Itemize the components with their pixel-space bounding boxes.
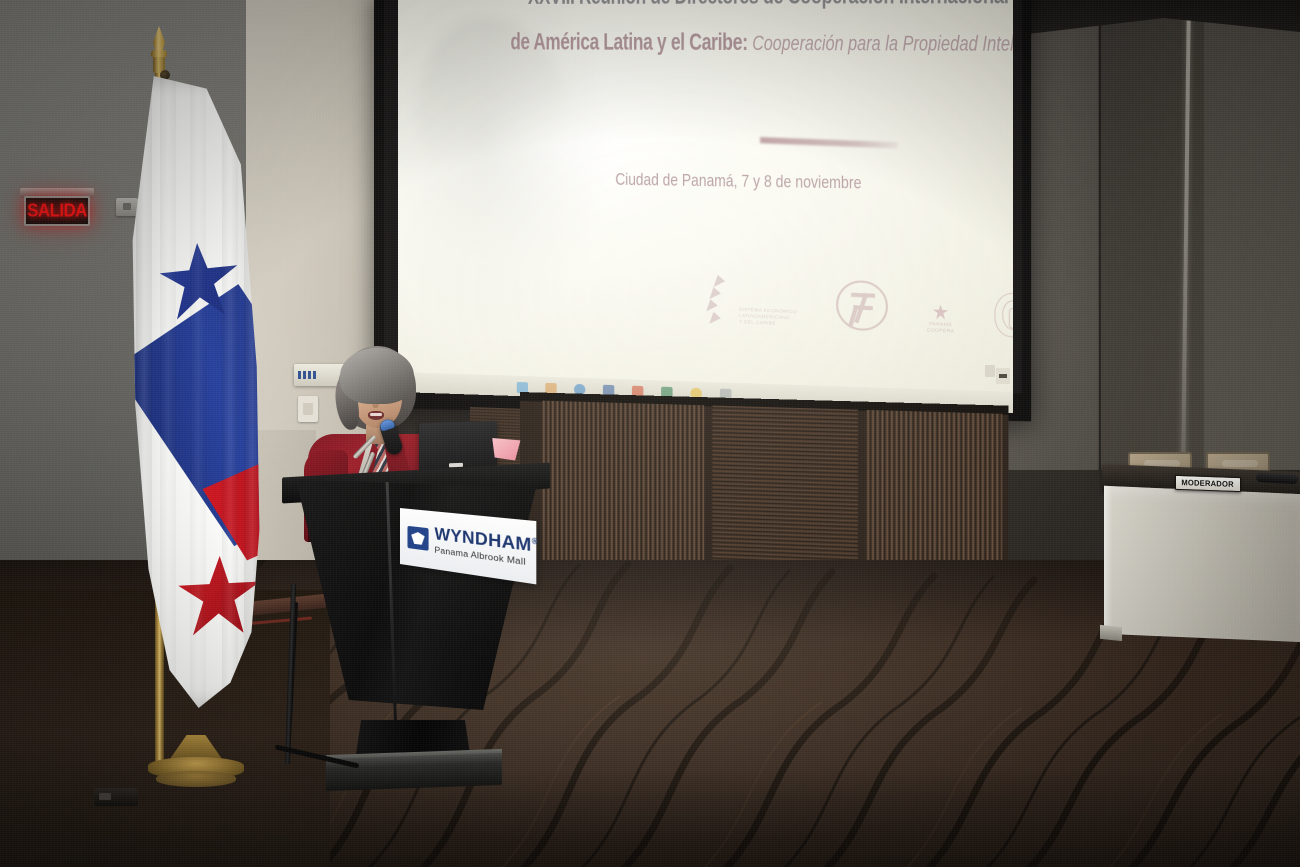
sela-mark-icon xyxy=(707,274,734,325)
podium-base-plate xyxy=(326,753,502,791)
speaker-mouth xyxy=(368,411,384,420)
slide-title-line-2: de América Latina y el Caribe: Cooperaci… xyxy=(509,29,916,58)
exit-sign-label: SALIDA xyxy=(27,200,87,222)
head-table-foot xyxy=(1100,625,1122,641)
flag-red-star-icon xyxy=(177,554,260,636)
flag-cloth xyxy=(130,76,262,708)
panama-coopera-line-2: COOPERA xyxy=(927,327,955,335)
right-wall-panel-c xyxy=(1204,0,1300,470)
exit-sign-face: SALIDA xyxy=(24,196,90,226)
equipment-stand-leg xyxy=(285,584,296,764)
slide-subtitle: Cooperación para la Propiedad Intelectua… xyxy=(752,31,1013,56)
slide-title-line-2-main: de América Latina y el Caribe: xyxy=(510,29,747,56)
wyndham-logo-icon xyxy=(407,526,428,551)
head-table-skirt xyxy=(1104,486,1300,642)
flag-finial-icon xyxy=(147,26,171,74)
projected-slide: XXVIII Reunión de Directores de Cooperac… xyxy=(398,0,1013,413)
moderador-nameplate: MODERADOR xyxy=(1175,475,1241,492)
conference-room-photo: XXVIII Reunión de Directores de Cooperac… xyxy=(0,0,1300,867)
moderador-nameplate-label: MODERADOR xyxy=(1182,478,1234,489)
wyndham-sign-text: WYNDHAM® Panama Albrook Mall xyxy=(434,526,538,569)
wall-switch-right[interactable] xyxy=(985,365,995,377)
wall-outlet-right[interactable] xyxy=(996,368,1010,384)
lectern-podium: WYNDHAM® Panama Albrook Mall xyxy=(282,452,550,782)
wall-corner-seam xyxy=(1099,0,1101,470)
slide-date: Ciudad de Panamá, 7 y 8 de noviembre xyxy=(615,170,861,193)
sela-logo: SISTEMA ECONÓMICO LATINOAMERICANO Y DEL … xyxy=(707,274,797,327)
flag-stand-base xyxy=(148,735,244,791)
speaker-hair-front xyxy=(340,348,414,404)
g77-logo-icon xyxy=(836,280,888,332)
head-table xyxy=(1104,468,1300,658)
panama-coopera-logo: PANAMÁ COOPERA xyxy=(927,304,955,335)
panama-coopera-star-icon xyxy=(933,304,948,319)
slide-title-line-1: XXVIII Reunión de Directores de Cooperac… xyxy=(509,0,916,11)
floor-junction-box xyxy=(94,788,138,806)
exit-sign: SALIDA xyxy=(24,196,90,230)
institutional-seal-logo-icon xyxy=(994,292,1013,338)
wyndham-trademark: ® xyxy=(532,538,538,547)
panama-flag xyxy=(130,76,262,708)
slide-body: XXVIII Reunión de Directores de Cooperac… xyxy=(398,0,1013,413)
sela-logo-text: SISTEMA ECONÓMICO LATINOAMERICANO Y DEL … xyxy=(739,307,797,328)
